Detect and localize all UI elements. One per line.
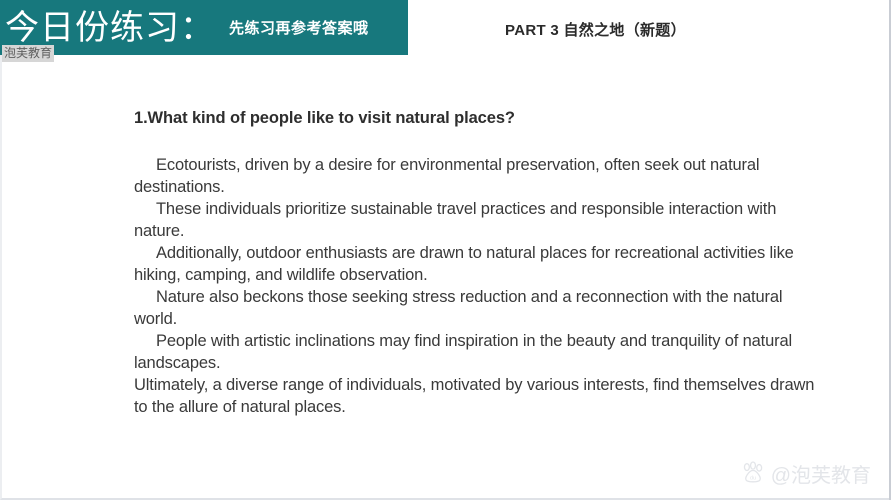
banner-subtitle: 先练习再参考答案哦 bbox=[229, 17, 369, 38]
brand-watermark-text: @泡芙教育 bbox=[771, 459, 871, 488]
baidu-paw-icon: du bbox=[740, 461, 766, 487]
question-text: 1.What kind of people like to visit natu… bbox=[134, 109, 515, 128]
banner: 今日份练习： 先练习再参考答案哦 bbox=[0, 0, 408, 55]
svg-text:du: du bbox=[750, 475, 756, 481]
answer-paragraph: Ultimately, a diverse range of individua… bbox=[134, 374, 824, 418]
answer-paragraph: People with artistic inclinations may fi… bbox=[134, 330, 824, 374]
slide-canvas: 今日份练习： 先练习再参考答案哦 泡芙教育 PART 3 自然之地（新题） 1.… bbox=[0, 0, 891, 500]
answer-paragraph: Additionally, outdoor enthusiasts are dr… bbox=[134, 242, 824, 286]
banner-title: 今日份练习： bbox=[0, 11, 215, 45]
answer-body: Ecotourists, driven by a desire for envi… bbox=[134, 154, 824, 418]
answer-paragraph: Nature also beckons those seeking stress… bbox=[134, 286, 824, 330]
corner-watermark: 泡芙教育 bbox=[2, 45, 54, 62]
part-title: PART 3 自然之地（新题） bbox=[505, 19, 686, 40]
answer-paragraph: These individuals prioritize sustainable… bbox=[134, 198, 824, 242]
brand-watermark: du @泡芙教育 bbox=[740, 459, 871, 488]
answer-paragraph: Ecotourists, driven by a desire for envi… bbox=[134, 154, 824, 198]
